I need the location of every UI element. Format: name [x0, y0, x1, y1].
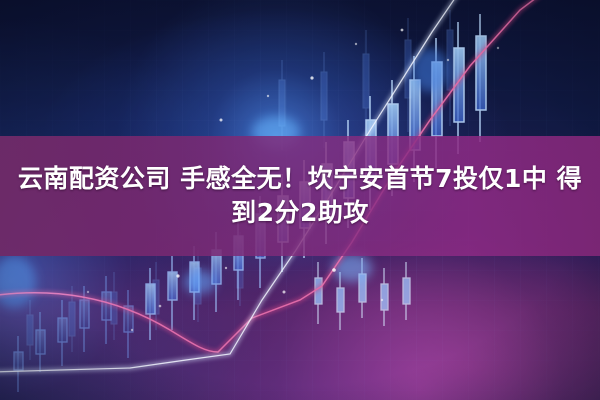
headline-line-2: 到2分2助攻 — [231, 196, 369, 230]
headline-line-1: 云南配资公司 手感全无！坎宁安首节7投仅1中 得 — [18, 162, 582, 196]
banner-image: 云南配资公司 手感全无！坎宁安首节7投仅1中 得 到2分2助攻 — [0, 0, 600, 400]
headline-band: 云南配资公司 手感全无！坎宁安首节7投仅1中 得 到2分2助攻 — [0, 136, 600, 256]
